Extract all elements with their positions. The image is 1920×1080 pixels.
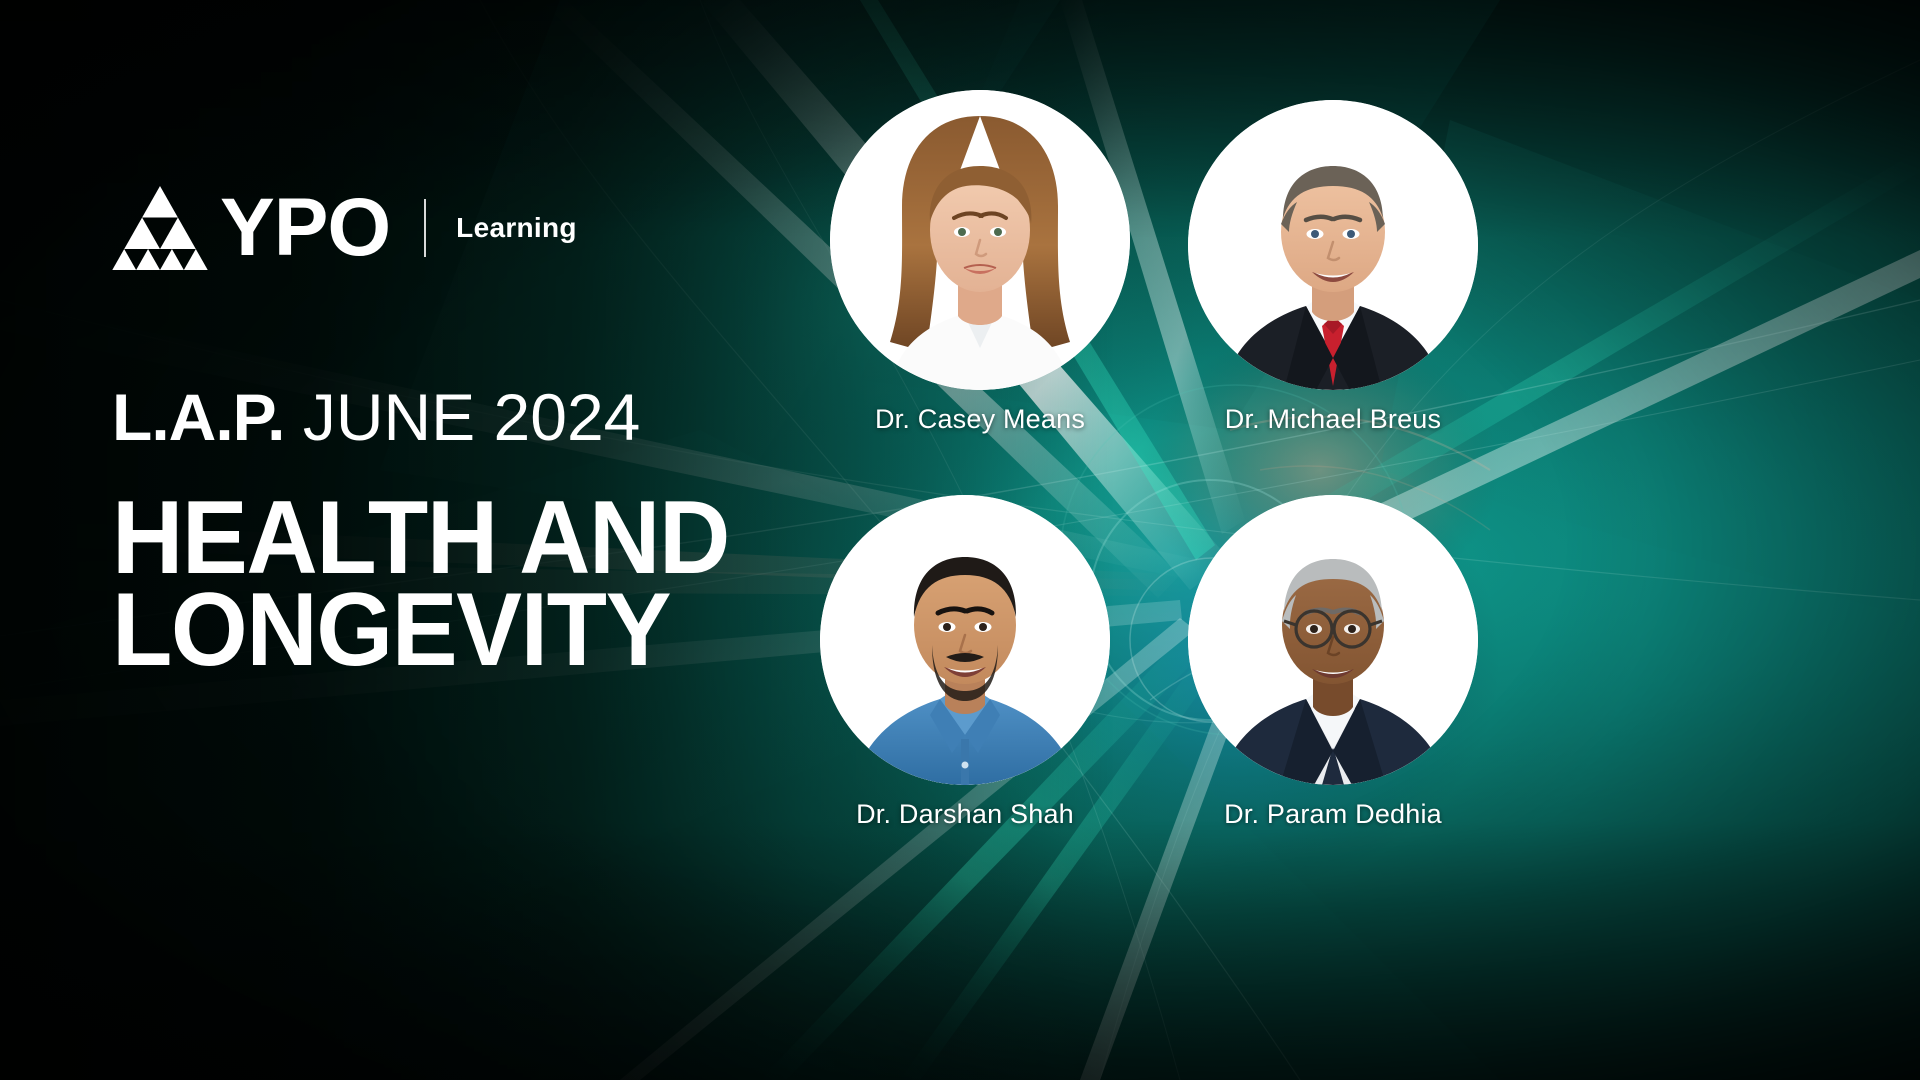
title-line-1: HEALTH AND (112, 492, 834, 584)
event-meta-line: L.A.P. JUNE 2024 (112, 382, 872, 452)
speaker-card-param-dedhia[interactable]: Dr. Param Dedhia (1188, 495, 1478, 830)
avatar (1188, 100, 1478, 390)
promo-banner: YPO Learning L.A.P. JUNE 2024 HEALTH AND… (0, 0, 1920, 1080)
speaker-card-darshan-shah[interactable]: Dr. Darshan Shah (820, 495, 1110, 830)
speaker-name: Dr. Darshan Shah (820, 799, 1110, 830)
avatar (820, 495, 1110, 785)
speaker-name: Dr. Casey Means (830, 404, 1130, 435)
program-abbreviation: L.A.P. (112, 380, 285, 454)
avatar (830, 90, 1130, 390)
speaker-card-casey-means[interactable]: Dr. Casey Means (830, 90, 1130, 435)
ypo-triangle-logo-icon (112, 186, 208, 270)
speaker-name: Dr. Michael Breus (1188, 404, 1478, 435)
title-line-2: LONGEVITY (112, 584, 834, 676)
event-date: JUNE 2024 (303, 380, 641, 454)
ypo-wordmark: YPO (220, 186, 390, 270)
brand-lockup: YPO Learning (112, 180, 872, 276)
page-title: HEALTH AND LONGEVITY (112, 492, 834, 676)
avatar (1188, 495, 1478, 785)
speaker-name: Dr. Param Dedhia (1188, 799, 1478, 830)
brand-divider (424, 199, 426, 257)
headline-block: YPO Learning L.A.P. JUNE 2024 HEALTH AND… (112, 180, 872, 676)
speaker-card-michael-breus[interactable]: Dr. Michael Breus (1188, 100, 1478, 435)
brand-sub-label: Learning (456, 212, 577, 244)
